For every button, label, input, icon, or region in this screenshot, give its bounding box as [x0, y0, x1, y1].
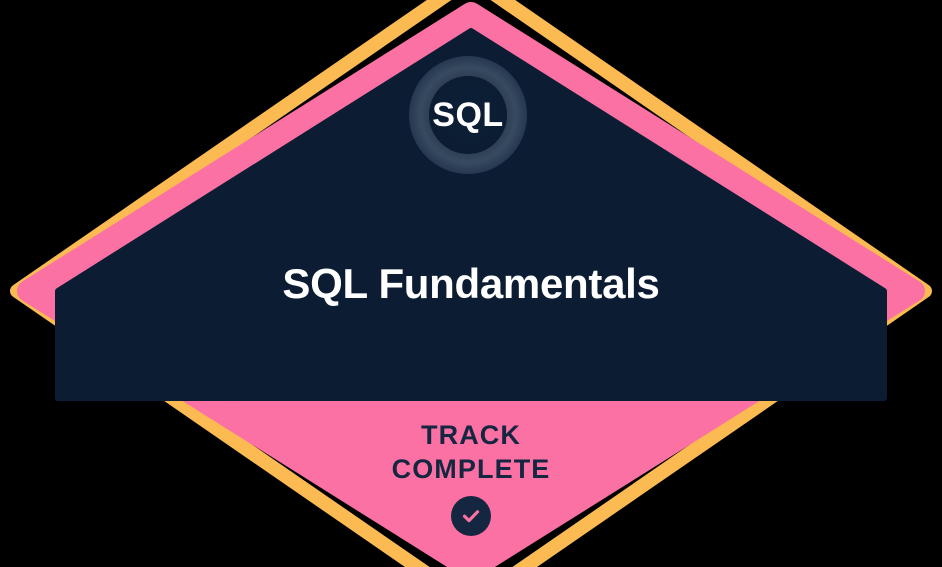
status-block: TRACK COMPLETE: [0, 418, 942, 536]
track-completion-badge: SQL SQL Fundamentals TRACK COMPLETE: [0, 0, 942, 567]
check-circle-icon: [451, 496, 491, 536]
track-title: SQL Fundamentals: [0, 255, 942, 313]
emblem-label: SQL: [432, 98, 503, 132]
status-badge: TRACK COMPLETE: [0, 418, 942, 486]
sql-emblem-icon: SQL: [409, 56, 527, 174]
